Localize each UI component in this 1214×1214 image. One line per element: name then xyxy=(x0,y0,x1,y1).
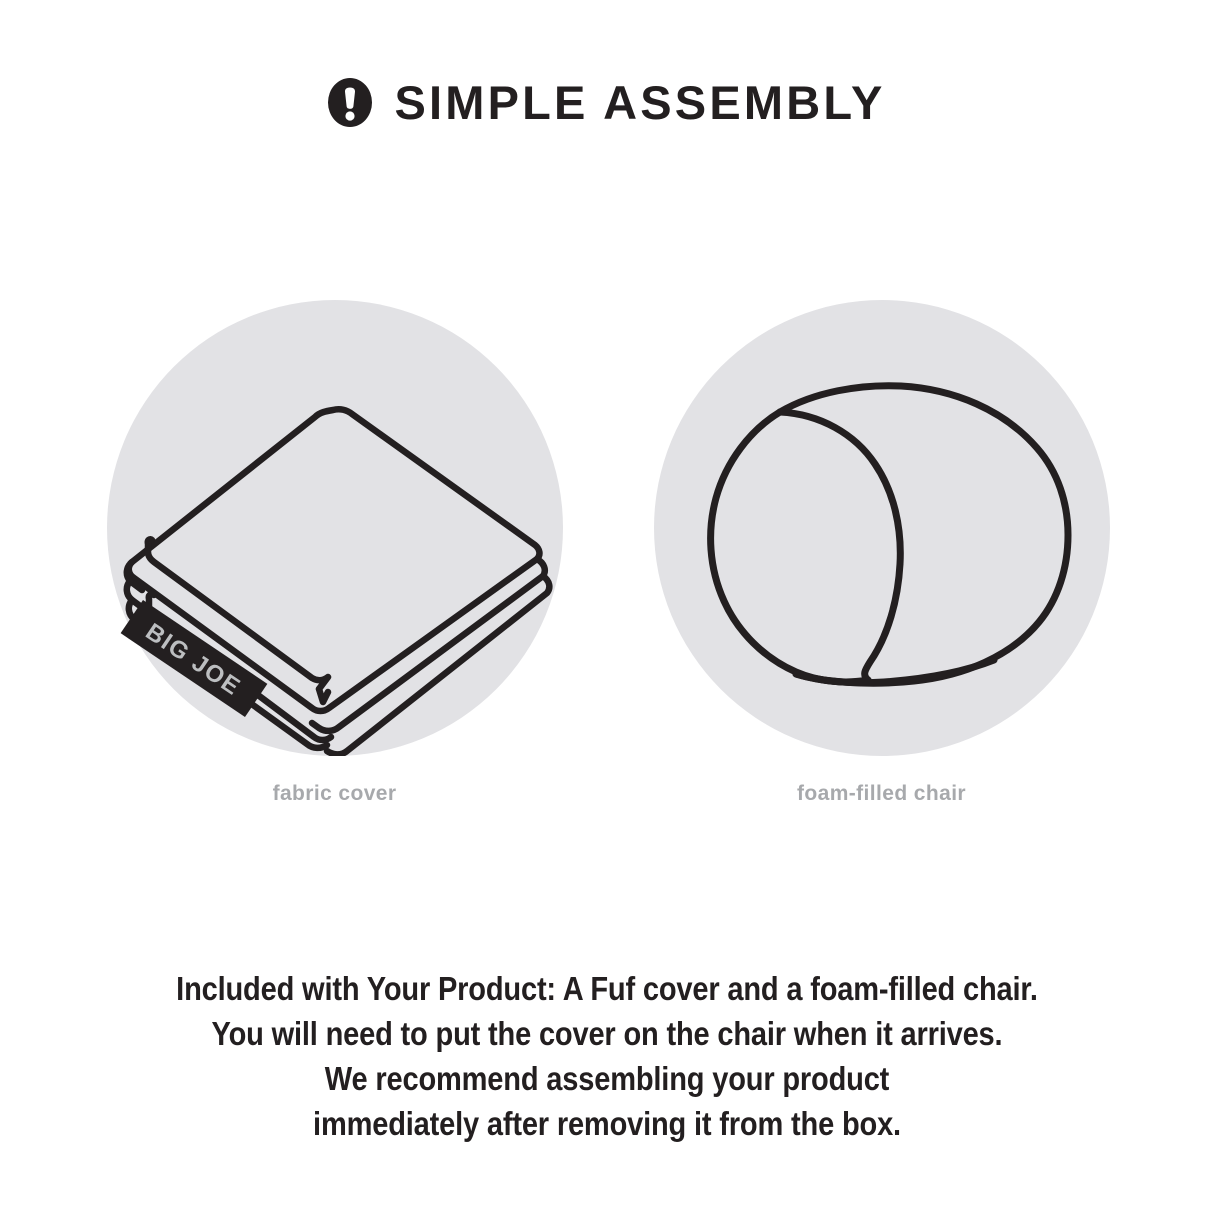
footnote-line-4: immediately after removing it from the b… xyxy=(73,1101,1141,1146)
illustration-fabric-cover: BIG JOE fabric cover xyxy=(61,300,608,830)
footnote-line-2: You will need to put the cover on the ch… xyxy=(73,1011,1141,1056)
caption-fabric-cover: fabric cover xyxy=(61,782,608,806)
illustration-row: BIG JOE fabric cover xyxy=(0,300,1214,830)
foam-filled-chair-drawing xyxy=(654,300,1110,756)
caption-foam-filled-chair: foam-filled chair xyxy=(608,782,1155,806)
exclamation-circle-icon xyxy=(328,78,372,127)
fabric-cover-circle-wrap: BIG JOE xyxy=(107,300,563,756)
foam-chair-circle-wrap xyxy=(654,300,1110,756)
footnote-line-1: Included with Your Product: A Fuf cover … xyxy=(73,966,1141,1011)
assembly-info-page: SIMPLE ASSEMBLY xyxy=(0,0,1214,1214)
page-header: SIMPLE ASSEMBLY xyxy=(0,78,1214,127)
big-joe-tag: BIG JOE xyxy=(107,300,563,756)
footnote-paragraph: Included with Your Product: A Fuf cover … xyxy=(0,966,1214,1146)
illustration-foam-filled-chair: foam-filled chair xyxy=(608,300,1155,830)
page-title: SIMPLE ASSEMBLY xyxy=(394,79,885,126)
footnote-line-3: We recommend assembling your product xyxy=(73,1056,1141,1101)
